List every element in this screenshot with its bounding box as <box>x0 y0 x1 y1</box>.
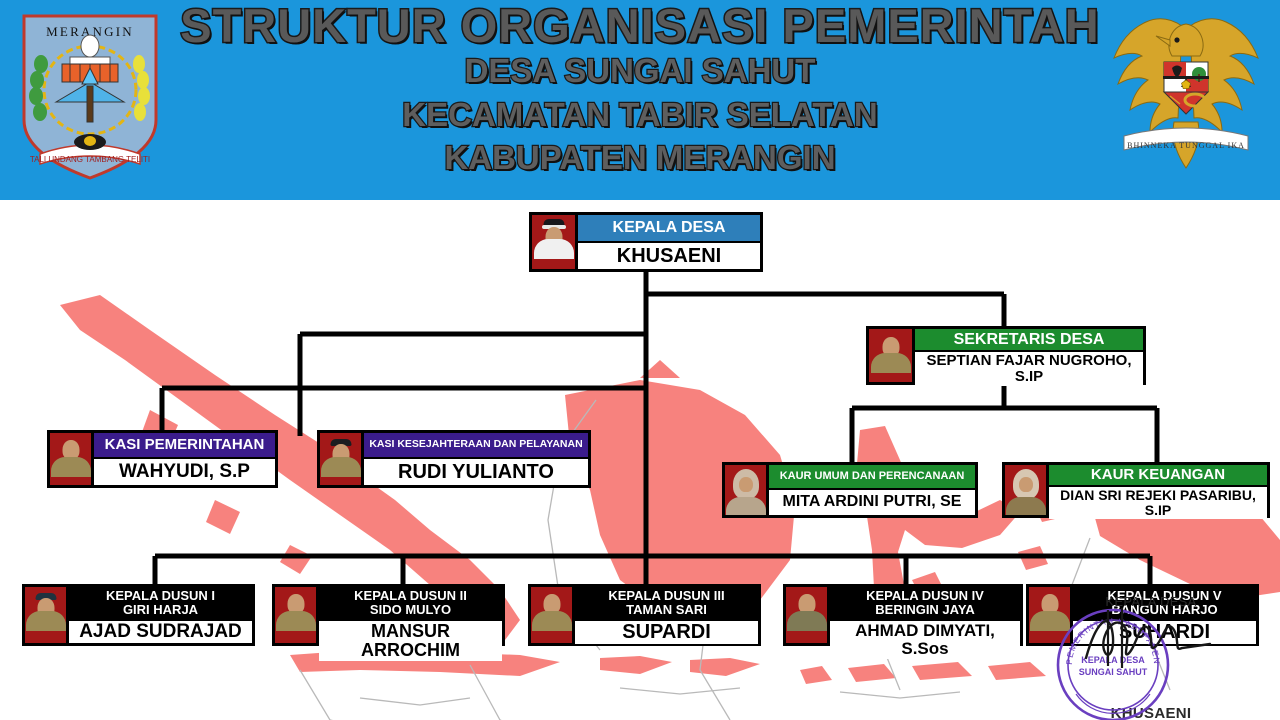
photo-kepala-desa <box>532 215 578 269</box>
name-kepala-dusun-1: AJAD SUDRAJAD <box>69 619 252 643</box>
name-kasi-kesejahteraan: RUDI YULIANTO <box>364 457 588 485</box>
node-sekretaris-desa[interactable]: SEKRETARIS DESA SEPTIAN FAJAR NUGROHO, S… <box>866 326 1146 385</box>
node-kepala-dusun-2[interactable]: KEPALA DUSUN II SIDO MULYO MANSUR ARROCH… <box>272 584 505 646</box>
title-line1-dusun-2: KEPALA DUSUN II <box>354 589 467 603</box>
title-kepala-desa: KEPALA DESA <box>578 215 760 241</box>
name-kepala-dusun-4: AHMAD DIMYATI, S.Sos <box>830 619 1020 659</box>
title-kepala-dusun-3: KEPALA DUSUN III TAMAN SARI <box>575 587 758 619</box>
title-line1-dusun-4: KEPALA DUSUN IV <box>866 589 984 603</box>
photo-kepala-dusun-1 <box>25 587 69 643</box>
handwritten-signature <box>1078 596 1228 674</box>
name-kepala-dusun-2: MANSUR ARROCHIM <box>319 619 502 661</box>
name-kasi-pemerintahan: WAHYUDI, S.P <box>94 457 275 485</box>
node-kepala-dusun-4[interactable]: KEPALA DUSUN IV BERINGIN JAYA AHMAD DIMY… <box>783 584 1023 646</box>
name-sekretaris-desa: SEPTIAN FAJAR NUGROHO, S.IP <box>915 350 1143 386</box>
title-kaur-umum: KAUR UMUM DAN PERENCANAAN <box>769 465 975 488</box>
title-line1-dusun-1: KEPALA DUSUN I <box>106 589 215 603</box>
title-kepala-dusun-2: KEPALA DUSUN II SIDO MULYO <box>319 587 502 619</box>
photo-kaur-keuangan <box>1005 465 1049 515</box>
signature-block: KEPALA DESA PEMERINTAH KABUPATEN KEPALA … <box>1026 594 1276 720</box>
title-line2-dusun-2: SIDO MULYO <box>370 603 451 617</box>
subtitle-regency: KABUPATEN MERANGIN <box>180 136 1100 180</box>
title-kepala-dusun-1: KEPALA DUSUN I GIRI HARJA <box>69 587 252 619</box>
photo-kepala-dusun-2 <box>275 587 319 643</box>
photo-kepala-dusun-4 <box>786 587 830 643</box>
title-line2-dusun-3: TAMAN SARI <box>626 603 707 617</box>
photo-kasi-pemerintahan <box>50 433 94 485</box>
subtitle-district: KECAMATAN TABIR SELATAN <box>180 93 1100 137</box>
node-kepala-desa[interactable]: KEPALA DESA KHUSAENI <box>529 212 763 272</box>
name-kepala-desa: KHUSAENI <box>578 241 760 269</box>
garuda-emblem-motto: BHINNEKA TUNGGAL IKA <box>1127 141 1245 150</box>
name-kaur-keuangan: DIAN SRI REJEKI PASARIBU, S.IP <box>1049 485 1267 518</box>
node-kaur-umum[interactable]: KAUR UMUM DAN PERENCANAAN MITA ARDINI PU… <box>722 462 978 518</box>
page-title: STRUKTUR ORGANISASI PEMERINTAH <box>180 2 1100 49</box>
photo-kaur-umum <box>725 465 769 515</box>
title-line2-dusun-1: GIRI HARJA <box>123 603 198 617</box>
node-kaur-keuangan[interactable]: KAUR KEUANGAN DIAN SRI REJEKI PASARIBU, … <box>1002 462 1270 518</box>
photo-kasi-kesejahteraan <box>320 433 364 485</box>
node-kepala-dusun-1[interactable]: KEPALA DUSUN I GIRI HARJA AJAD SUDRAJAD <box>22 584 255 646</box>
header-titles: STRUKTUR ORGANISASI PEMERINTAH DESA SUNG… <box>180 0 1100 180</box>
subtitle-village: DESA SUNGAI SAHUT <box>180 49 1100 93</box>
organization-chart-page: MERANGIN TALI UNDANG TAMBANG TELI <box>0 0 1280 720</box>
merangin-regency-emblem: MERANGIN TALI UNDANG TAMBANG TELI <box>10 2 170 182</box>
photo-sekretaris-desa <box>869 329 915 382</box>
node-kasi-kesejahteraan[interactable]: KASI KESEJAHTERAAN DAN PELAYANAN RUDI YU… <box>317 430 591 488</box>
node-kepala-dusun-3[interactable]: KEPALA DUSUN III TAMAN SARI SUPARDI <box>528 584 761 646</box>
name-kepala-dusun-3: SUPARDI <box>575 619 758 644</box>
title-kasi-pemerintahan: KASI PEMERINTAHAN <box>94 433 275 457</box>
merangin-emblem-motto: TALI UNDANG TAMBANG TELITI <box>30 155 150 164</box>
title-line1-dusun-3: KEPALA DUSUN III <box>608 589 724 603</box>
title-line2-dusun-4: BERINGIN JAYA <box>875 603 974 617</box>
garuda-pancasila-emblem: BHINNEKA TUNGGAL IKA <box>1106 4 1266 180</box>
title-kasi-kesejahteraan: KASI KESEJAHTERAAN DAN PELAYANAN <box>364 433 588 457</box>
node-kasi-pemerintahan[interactable]: KASI PEMERINTAHAN WAHYUDI, S.P <box>47 430 278 488</box>
page-header: MERANGIN TALI UNDANG TAMBANG TELI <box>0 0 1280 200</box>
name-kaur-umum: MITA ARDINI PUTRI, SE <box>769 488 975 515</box>
title-sekretaris-desa: SEKRETARIS DESA <box>915 329 1143 350</box>
photo-kepala-dusun-3 <box>531 587 575 643</box>
title-kaur-keuangan: KAUR KEUANGAN <box>1049 465 1267 485</box>
title-kepala-dusun-4: KEPALA DUSUN IV BERINGIN JAYA <box>830 587 1020 619</box>
